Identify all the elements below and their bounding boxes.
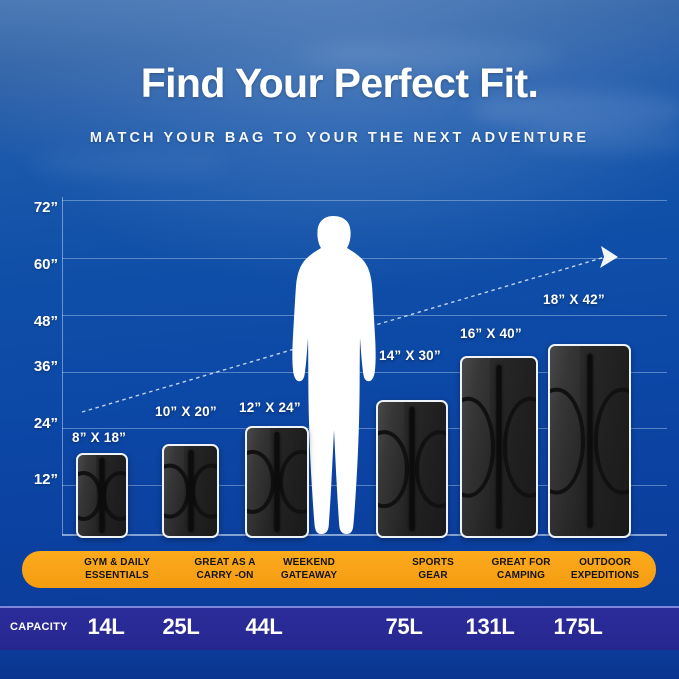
bag-3-dimension-label: 12” X 24” [239,400,301,415]
bag-lobe-right-icon [191,464,219,519]
bag-2-dimension-label: 10” X 20” [155,404,217,419]
bag-1[interactable] [76,453,128,538]
capacity-value-4: 75L [376,614,432,640]
y-tick-label-36: 36” [10,358,58,375]
y-tick-label-72: 72” [10,199,58,216]
bag-3[interactable] [245,426,309,538]
bag-lobe-right-icon [503,397,538,498]
bag-5-dimension-label: 16” X 40” [460,326,522,341]
bag-4[interactable] [376,400,448,538]
y-tick-label-60: 60” [10,256,58,273]
bag-6[interactable] [548,344,631,538]
use-case-bar: GYM & DAILYESSENTIALS GREAT AS ACARRY -O… [22,551,656,588]
bag-spine-icon [188,450,193,533]
footer-band [0,650,679,679]
bag-spine-icon [100,458,105,533]
bag-lobe-left-icon [162,464,190,519]
y-tick-label-48: 48” [10,313,58,330]
capacity-label: CAPACITY [10,621,68,633]
infographic-canvas: Find Your Perfect Fit. MATCH YOUR BAG TO… [0,0,679,679]
bag-2[interactable] [162,444,219,538]
use-case-1[interactable]: GYM & DAILYESSENTIALS [56,551,178,588]
capacity-value-2: 25L [153,614,209,640]
capacity-value-5: 131L [456,614,524,640]
bag-spine-icon [275,432,280,531]
bag-5[interactable] [460,356,538,538]
y-tick-label-24: 24” [10,415,58,432]
bag-spine-icon [410,407,415,530]
bag-lobe-left-icon [245,450,275,514]
use-case-6[interactable]: OUTDOOREXPEDITIONS [542,551,668,588]
capacity-value-3: 44L [236,614,292,640]
bag-6-dimension-label: 18” X 42” [543,292,605,307]
bag-lobe-right-icon [102,470,128,520]
gridline-72 [62,200,667,201]
bag-spine-icon [587,354,592,529]
capacity-value-1: 14L [78,614,134,640]
bag-lobe-right-icon [415,430,448,508]
y-tick-label-12: 12” [10,471,58,488]
bag-1-dimension-label: 8” X 18” [72,430,126,445]
capacity-bar: CAPACITY 14L 25L 44L 75L 131L 175L [0,606,679,652]
capacity-value-6: 175L [544,614,612,640]
bag-lobe-left-icon [376,430,409,508]
bag-lobe-right-icon [594,388,631,495]
bag-4-dimension-label: 14” X 30” [379,348,441,363]
bag-lobe-left-icon [76,470,102,520]
bag-lobe-right-icon [279,450,309,514]
use-case-3[interactable]: WEEKENDGATEAWAY [248,551,370,588]
bag-spine-icon [497,365,502,529]
